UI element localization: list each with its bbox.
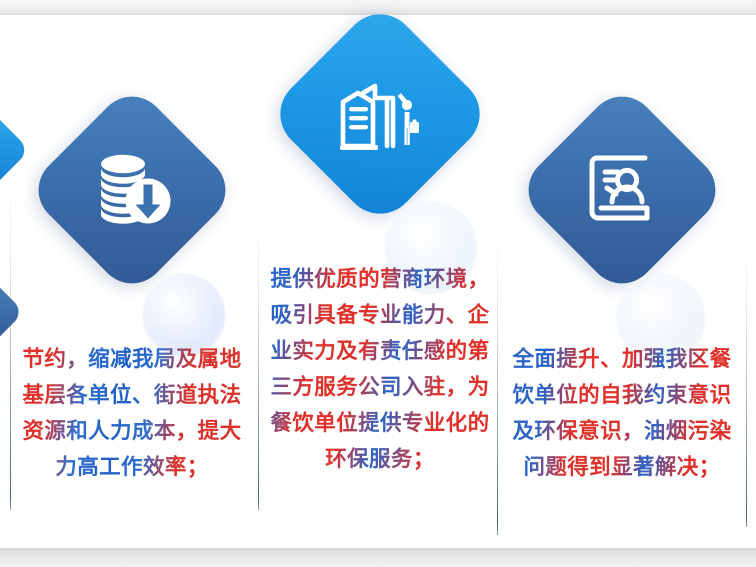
benefit-caption-cost-saving: 节约，缩减我局及属地基层各单位、街道执法资源和人力成本，提大力高工作效率； xyxy=(14,341,250,485)
divider-right xyxy=(746,247,747,527)
divider-left xyxy=(10,185,11,510)
slide-top-edge-band xyxy=(0,0,756,15)
benefit-caption-business-environment: 提供优质的营商环境，吸引具备专业能力、企业实力及有责任感的第三方服务公司入驻，为… xyxy=(262,261,498,477)
icon-slot-2 xyxy=(299,33,461,195)
benefit-column-business-environment[interactable]: 提供优质的营商环境，吸引具备专业能力、企业实力及有责任感的第三方服务公司入驻，为… xyxy=(262,15,498,548)
person-id-card-icon xyxy=(583,150,661,230)
benefit-caption-awareness: 全面提升、加强我区餐饮单位的自我约束意识及环保意识，油烟污染问题得到显著解决； xyxy=(504,341,740,485)
slide-canvas: 节约，缩减我局及属地基层各单位、街道执法资源和人力成本，提大力高工作效率； xyxy=(0,0,756,567)
slide-content-area: 节约，缩减我局及属地基层各单位、街道执法资源和人力成本，提大力高工作效率； xyxy=(0,15,756,548)
slide-bottom-edge-band xyxy=(0,548,756,567)
benefit-column-cost-saving[interactable]: 节约，缩减我局及属地基层各单位、街道执法资源和人力成本，提大力高工作效率； xyxy=(14,15,250,548)
benefit-column-awareness[interactable]: 全面提升、加强我区餐饮单位的自我约束意识及环保意识，油烟污染问题得到显著解决； xyxy=(504,15,740,548)
icon-slot-3 xyxy=(546,114,698,266)
icon-tile-wrap-1 xyxy=(56,114,208,266)
divider-between-col1-col2 xyxy=(258,220,259,510)
diamond-tile-awareness[interactable] xyxy=(515,83,730,298)
coin-stack-down-arrow-icon xyxy=(92,151,172,229)
office-building-businessman-icon xyxy=(335,74,425,154)
diamond-tile-cost-saving[interactable] xyxy=(25,83,240,298)
icon-slot-1 xyxy=(56,114,208,266)
diamond-tile-business-environment[interactable] xyxy=(265,0,494,229)
icon-tile-wrap-3 xyxy=(546,114,698,266)
icon-tile-wrap-2 xyxy=(299,33,461,195)
